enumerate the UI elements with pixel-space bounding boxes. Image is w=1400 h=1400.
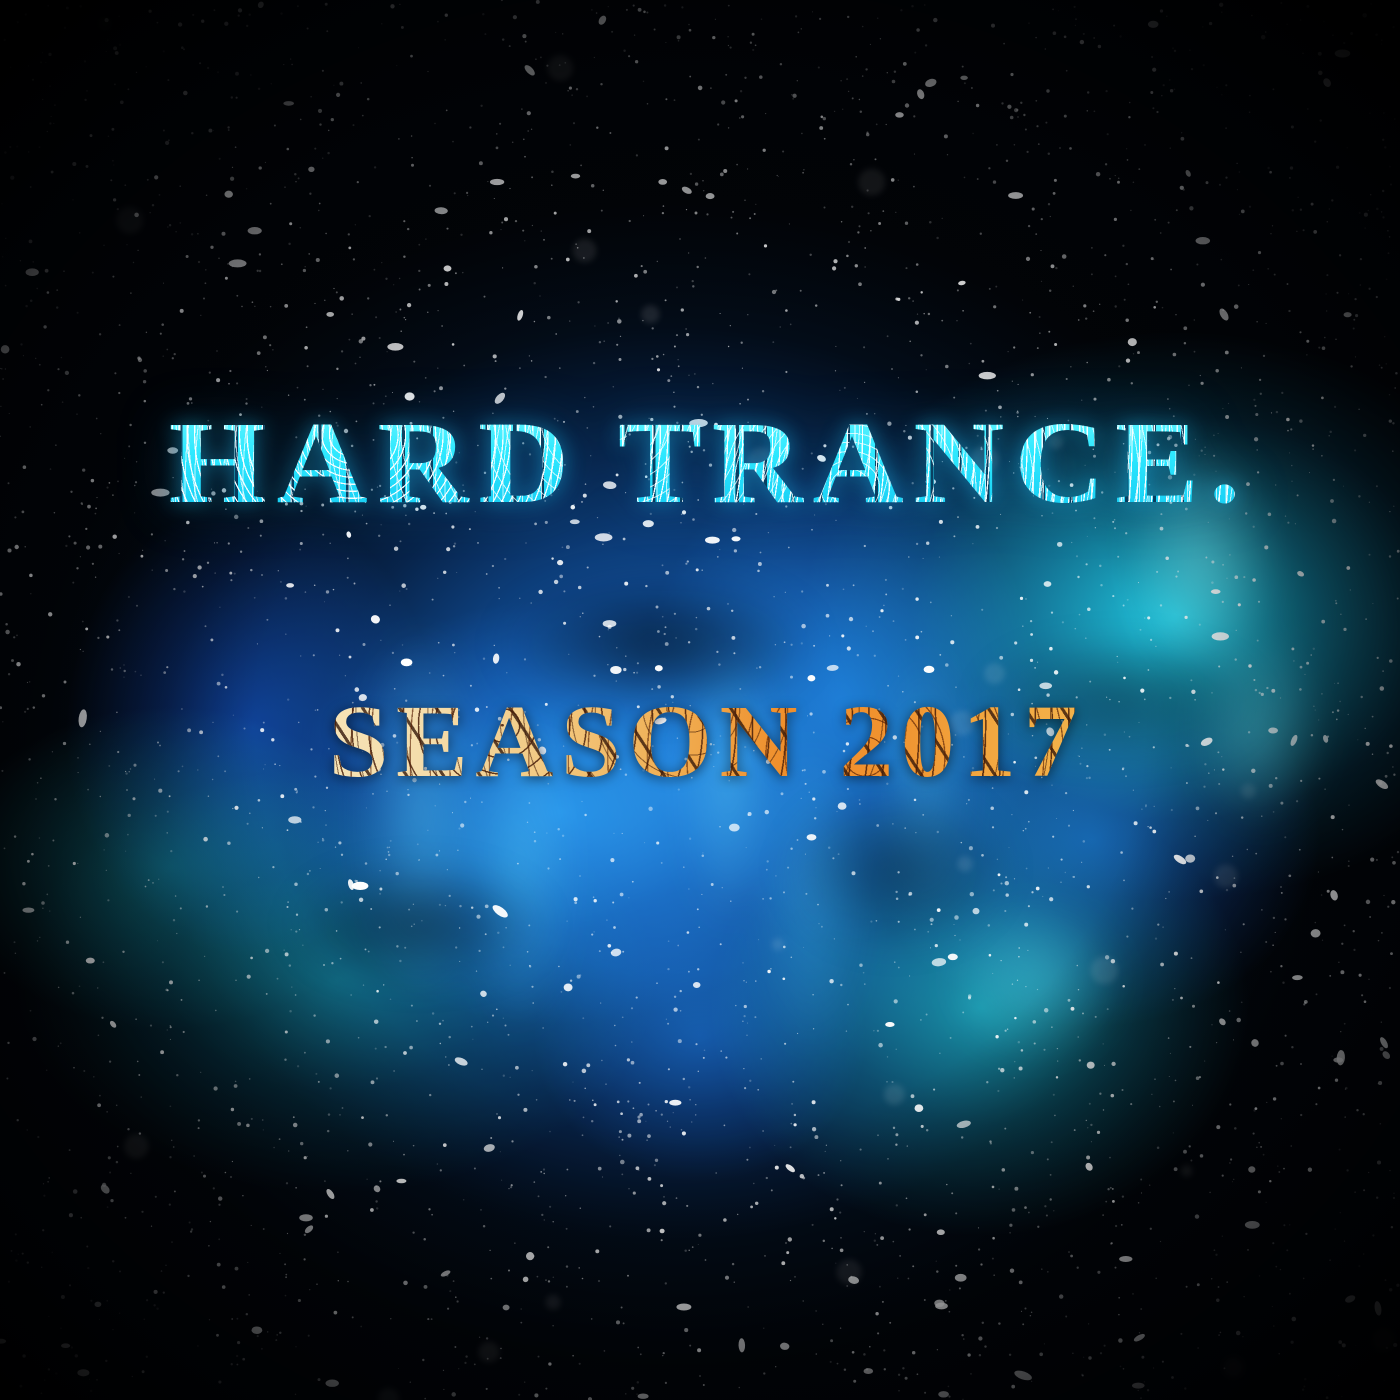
- cover-title-text: HARD TRANCE.: [168, 404, 1249, 522]
- cover-subtitle-text: SEASON 2017: [329, 690, 1085, 794]
- cover-subtitle: SEASON 2017: [0, 690, 1400, 794]
- cover-title: HARD TRANCE.: [0, 404, 1400, 522]
- title-block: HARD TRANCE. SEASON 2017: [0, 0, 1400, 1400]
- album-cover: HARD TRANCE. SEASON 2017: [0, 0, 1400, 1400]
